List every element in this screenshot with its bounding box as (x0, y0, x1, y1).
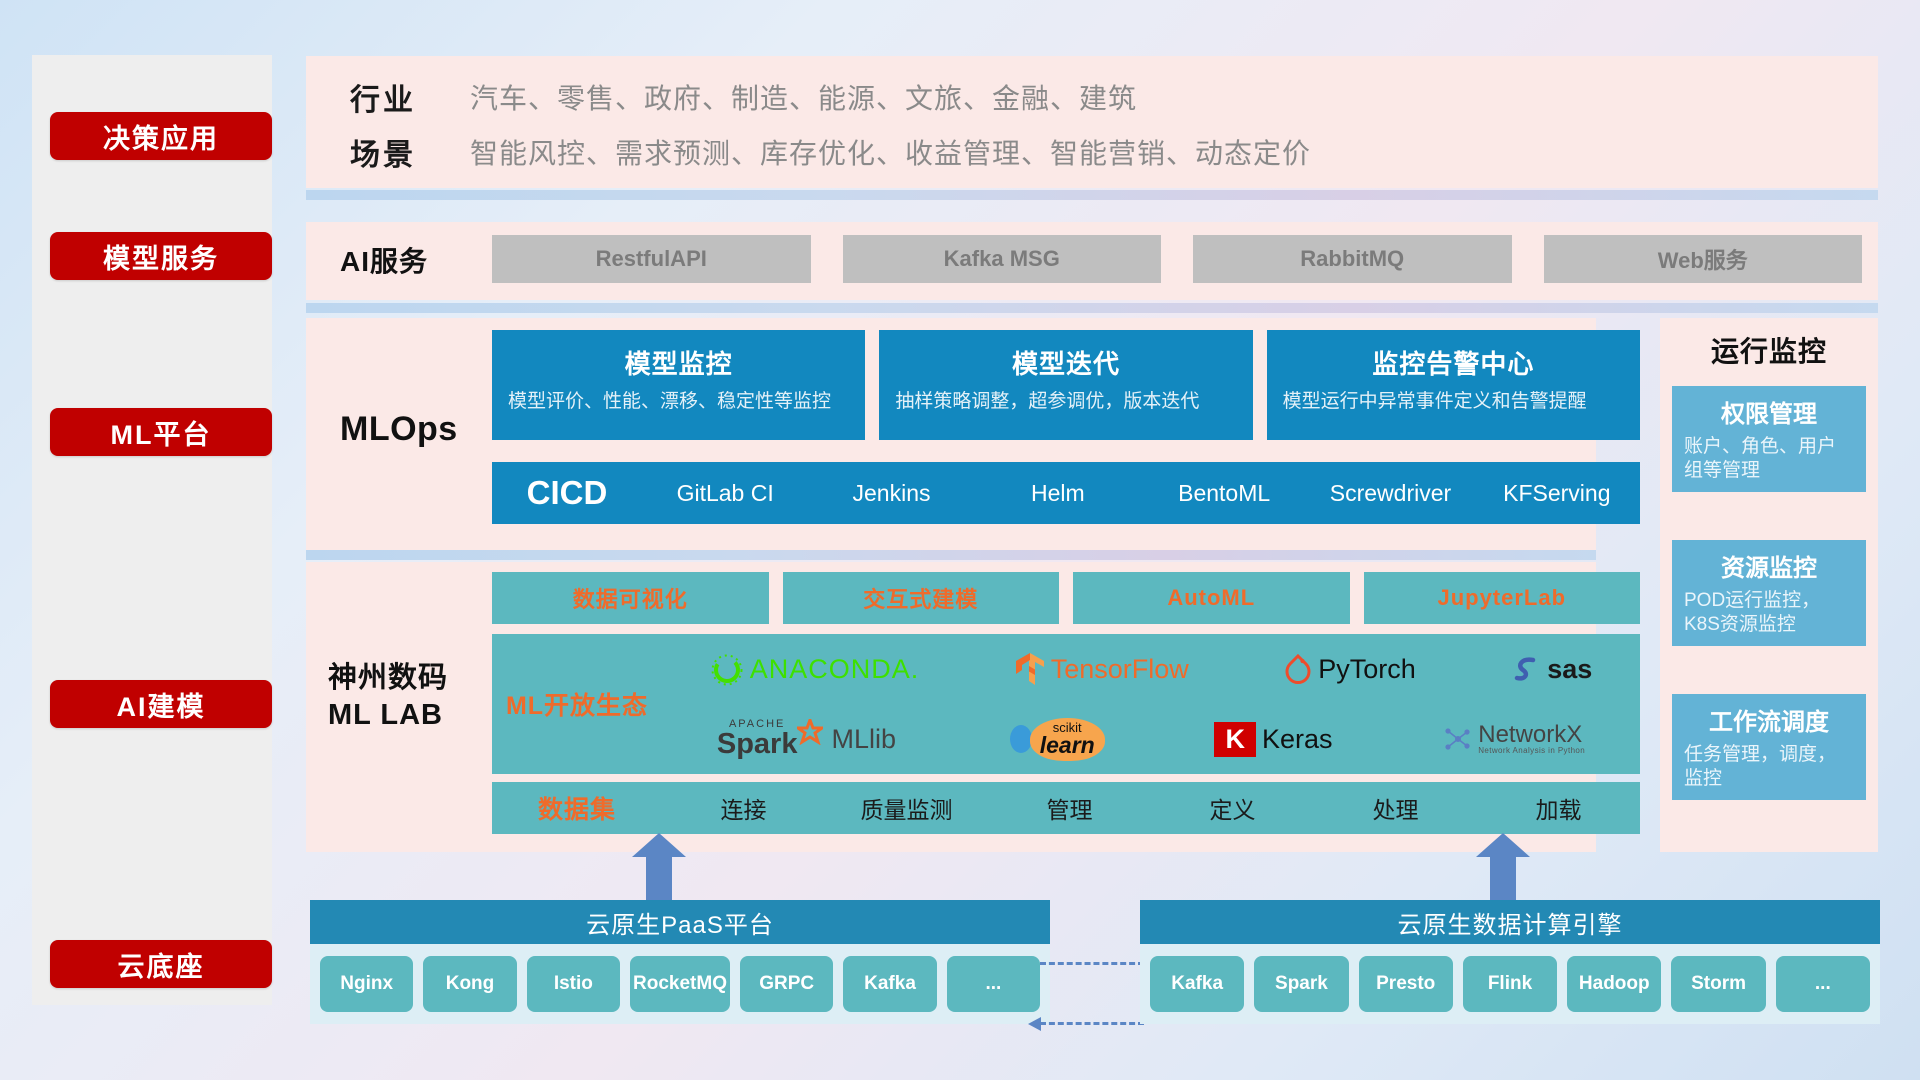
engine-chip-spark[interactable]: Spark (1254, 956, 1348, 1012)
cloud-chip-more[interactable]: ... (947, 956, 1040, 1012)
networkx-sublabel: Network Analysis in Python (1478, 747, 1585, 755)
cicd-item-gitlab[interactable]: GitLab CI (642, 474, 808, 512)
engine-chip-presto[interactable]: Presto (1359, 956, 1453, 1012)
anaconda-logo: ANACONDA. (710, 652, 920, 686)
scenario-key: 场景 (350, 130, 470, 174)
dashed-arrow-left (1040, 1022, 1144, 1025)
sas-icon (1511, 654, 1541, 684)
runtime-card-workflow[interactable]: 工作流调度 任务管理，调度，监控 (1672, 694, 1866, 800)
pytorch-logo: PyTorch (1284, 653, 1416, 685)
card-desc: 账户、角色、用户组等管理 (1684, 435, 1854, 484)
cloud-engine-title: 云原生数据计算引擎 (1140, 900, 1880, 944)
networkx-graph-icon (1442, 724, 1472, 754)
tool-chip-jupyterlab[interactable]: JupyterLab (1364, 572, 1641, 624)
layer-tag-cloud-base[interactable]: 云底座 (50, 940, 272, 988)
ml-lab-label-line2: ML LAB (328, 697, 448, 734)
ecosystem-logo-row-1: ANACONDA. TensorFlow PyTorch (662, 634, 1640, 704)
layer-tag-label: AI建模 (117, 685, 206, 724)
layer-rail (32, 55, 272, 1005)
industry-key: 行业 (350, 75, 470, 119)
arrow-up-paas-icon (646, 855, 672, 901)
spark-label: Spark (717, 730, 798, 759)
card-desc: 任务管理，调度，监控 (1684, 743, 1854, 792)
card-desc: 抽样策略调整，超参调优，版本迭代 (895, 390, 1236, 415)
layer-tag-label: 决策应用 (103, 117, 219, 156)
card-title: 监控告警中心 (1283, 344, 1624, 381)
scenario-row: 场景 智能风控、需求预测、库存优化、收益管理、智能营销、动态定价 (350, 130, 1311, 174)
engine-chip-kafka[interactable]: Kafka (1150, 956, 1244, 1012)
dataset-item-load[interactable]: 加载 (1477, 791, 1640, 825)
mlops-card-model-monitoring[interactable]: 模型监控 模型评价、性能、漂移、稳定性等监控 (492, 330, 865, 440)
keras-logo: K Keras (1214, 722, 1332, 757)
dataset-title: 数据集 (492, 790, 662, 826)
networkx-logo: NetworkX Network Analysis in Python (1442, 722, 1585, 756)
cicd-bar: CICD GitLab CI Jenkins Helm BentoML Scre… (492, 462, 1640, 524)
tool-chip-automl[interactable]: AutoML (1073, 572, 1350, 624)
anaconda-icon (710, 652, 744, 686)
engine-chip-storm[interactable]: Storm (1671, 956, 1765, 1012)
cicd-title: CICD (492, 474, 642, 512)
cloud-paas-chip-row: Nginx Kong Istio RocketMQ GRPC Kafka ... (310, 944, 1050, 1024)
ml-lab-tool-strip: 数据可视化 交互式建模 AutoML JupyterLab (492, 572, 1640, 624)
tool-chip-interactive-modeling[interactable]: 交互式建模 (783, 572, 1060, 624)
layer-tag-label: 模型服务 (103, 237, 219, 276)
dataset-item-process[interactable]: 处理 (1314, 791, 1477, 825)
ai-service-chip-web[interactable]: Web服务 (1544, 235, 1863, 283)
band-separator (306, 550, 1596, 560)
layer-tag-model-service[interactable]: 模型服务 (50, 232, 272, 280)
band-separator (306, 303, 1878, 313)
architecture-diagram: 决策应用 模型服务 ML平台 AI建模 云底座 行业 汽车、零售、政府、制造、能… (0, 0, 1920, 1080)
band-separator (306, 190, 1878, 200)
card-desc: 模型评价、性能、漂移、稳定性等监控 (508, 390, 849, 415)
dataset-item-connect[interactable]: 连接 (662, 791, 825, 825)
sas-label: sas (1547, 654, 1592, 685)
pytorch-label: PyTorch (1318, 654, 1416, 685)
ai-service-chip-strip: RestfulAPI Kafka MSG RabbitMQ Web服务 (492, 235, 1862, 283)
cloud-data-engine: 云原生数据计算引擎 Kafka Spark Presto Flink Hadoo… (1140, 900, 1880, 1024)
layer-tag-label: 云底座 (118, 945, 205, 984)
cicd-item-helm[interactable]: Helm (975, 474, 1141, 512)
sas-logo: sas (1511, 654, 1592, 685)
cloud-chip-rocketmq[interactable]: RocketMQ (630, 956, 730, 1012)
ml-lab-label: 神州数码 ML LAB (328, 660, 448, 734)
layer-tag-ai-modeling[interactable]: AI建模 (50, 680, 272, 728)
anaconda-label: ANACONDA. (750, 654, 920, 685)
layer-tag-ml-platform[interactable]: ML平台 (50, 408, 272, 456)
keras-mark: K (1214, 722, 1256, 757)
dataset-bar: 数据集 连接 质量监测 管理 定义 处理 加载 (492, 782, 1640, 834)
ecosystem-logo-grid: ANACONDA. TensorFlow PyTorch (662, 634, 1640, 774)
dataset-item-manage[interactable]: 管理 (988, 791, 1151, 825)
layer-tag-decision-app[interactable]: 决策应用 (50, 112, 272, 160)
cloud-paas-title: 云原生PaaS平台 (310, 900, 1050, 944)
card-title: 模型监控 (508, 344, 849, 381)
card-title: 工作流调度 (1684, 702, 1854, 737)
runtime-card-resource[interactable]: 资源监控 POD运行监控，K8S资源监控 (1672, 540, 1866, 646)
tensorflow-logo: TensorFlow (1015, 652, 1189, 686)
ml-open-ecosystem-box: ML开放生态 ANACONDA. TensorFlow (492, 634, 1640, 774)
cloud-chip-kafka[interactable]: Kafka (843, 956, 936, 1012)
industry-value: 汽车、零售、政府、制造、能源、文旅、金融、建筑 (470, 77, 1137, 117)
ml-open-ecosystem-label: ML开放生态 (492, 686, 662, 722)
cloud-chip-nginx[interactable]: Nginx (320, 956, 413, 1012)
dashed-arrow-right (1040, 962, 1144, 965)
mlops-label: MLOps (340, 410, 458, 449)
ai-service-label: AI服务 (340, 240, 428, 280)
cicd-item-kfserving[interactable]: KFServing (1474, 474, 1640, 512)
cloud-engine-chip-row: Kafka Spark Presto Flink Hadoop Storm ..… (1140, 944, 1880, 1024)
tensorflow-icon (1015, 652, 1045, 686)
cloud-paas-platform: 云原生PaaS平台 Nginx Kong Istio RocketMQ GRPC… (310, 900, 1050, 1024)
cicd-item-screwdriver[interactable]: Screwdriver (1307, 474, 1473, 512)
layer-tag-label: ML平台 (111, 413, 212, 452)
cloud-chip-kong[interactable]: Kong (423, 956, 516, 1012)
dataset-item-define[interactable]: 定义 (1151, 791, 1314, 825)
engine-chip-hadoop[interactable]: Hadoop (1567, 956, 1661, 1012)
runtime-monitor-title: 运行监控 (1660, 330, 1878, 370)
spark-mllib-logo: APACHE Spark MLlib (717, 719, 896, 759)
dataset-item-quality[interactable]: 质量监测 (825, 791, 988, 825)
ai-service-chip-rabbitmq[interactable]: RabbitMQ (1193, 235, 1512, 283)
card-title: 资源监控 (1684, 548, 1854, 583)
spark-star-icon (797, 719, 823, 745)
cicd-item-bentoml[interactable]: BentoML (1141, 474, 1307, 512)
scikit-learn-logo: scikit learn (1006, 718, 1105, 761)
ai-service-chip-restful[interactable]: RestfulAPI (492, 235, 811, 283)
networkx-label: NetworkX (1478, 722, 1585, 747)
cloud-chip-grpc[interactable]: GRPC (740, 956, 833, 1012)
runtime-card-permission[interactable]: 权限管理 账户、角色、用户组等管理 (1672, 386, 1866, 492)
cicd-item-jenkins[interactable]: Jenkins (808, 474, 974, 512)
mlops-card-alert-center[interactable]: 监控告警中心 模型运行中异常事件定义和告警提醒 (1267, 330, 1640, 440)
tensorflow-label: TensorFlow (1051, 654, 1189, 685)
tool-chip-data-visualization[interactable]: 数据可视化 (492, 572, 769, 624)
ecosystem-logo-row-2: APACHE Spark MLlib scikit learn (662, 704, 1640, 774)
card-title: 权限管理 (1684, 394, 1854, 429)
ai-service-chip-kafka[interactable]: Kafka MSG (843, 235, 1162, 283)
mlops-card-strip: 模型监控 模型评价、性能、漂移、稳定性等监控 模型迭代 抽样策略调整，超参调优，… (492, 330, 1640, 440)
card-desc: 模型运行中异常事件定义和告警提醒 (1283, 390, 1624, 415)
ml-lab-label-line1: 神州数码 (328, 660, 448, 697)
engine-chip-flink[interactable]: Flink (1463, 956, 1557, 1012)
card-title: 模型迭代 (895, 344, 1236, 381)
keras-label: Keras (1262, 724, 1333, 755)
industry-row: 行业 汽车、零售、政府、制造、能源、文旅、金融、建筑 (350, 75, 1137, 119)
mllib-label: MLlib (831, 724, 896, 755)
card-desc: POD运行监控，K8S资源监控 (1684, 589, 1854, 638)
scenario-value: 智能风控、需求预测、库存优化、收益管理、智能营销、动态定价 (470, 132, 1311, 172)
pytorch-icon (1284, 653, 1312, 685)
mlops-card-model-iteration[interactable]: 模型迭代 抽样策略调整，超参调优，版本迭代 (879, 330, 1252, 440)
arrow-up-engine-icon (1490, 855, 1516, 901)
engine-chip-more[interactable]: ... (1776, 956, 1870, 1012)
cloud-chip-istio[interactable]: Istio (527, 956, 620, 1012)
learn-label: learn (1040, 734, 1095, 757)
